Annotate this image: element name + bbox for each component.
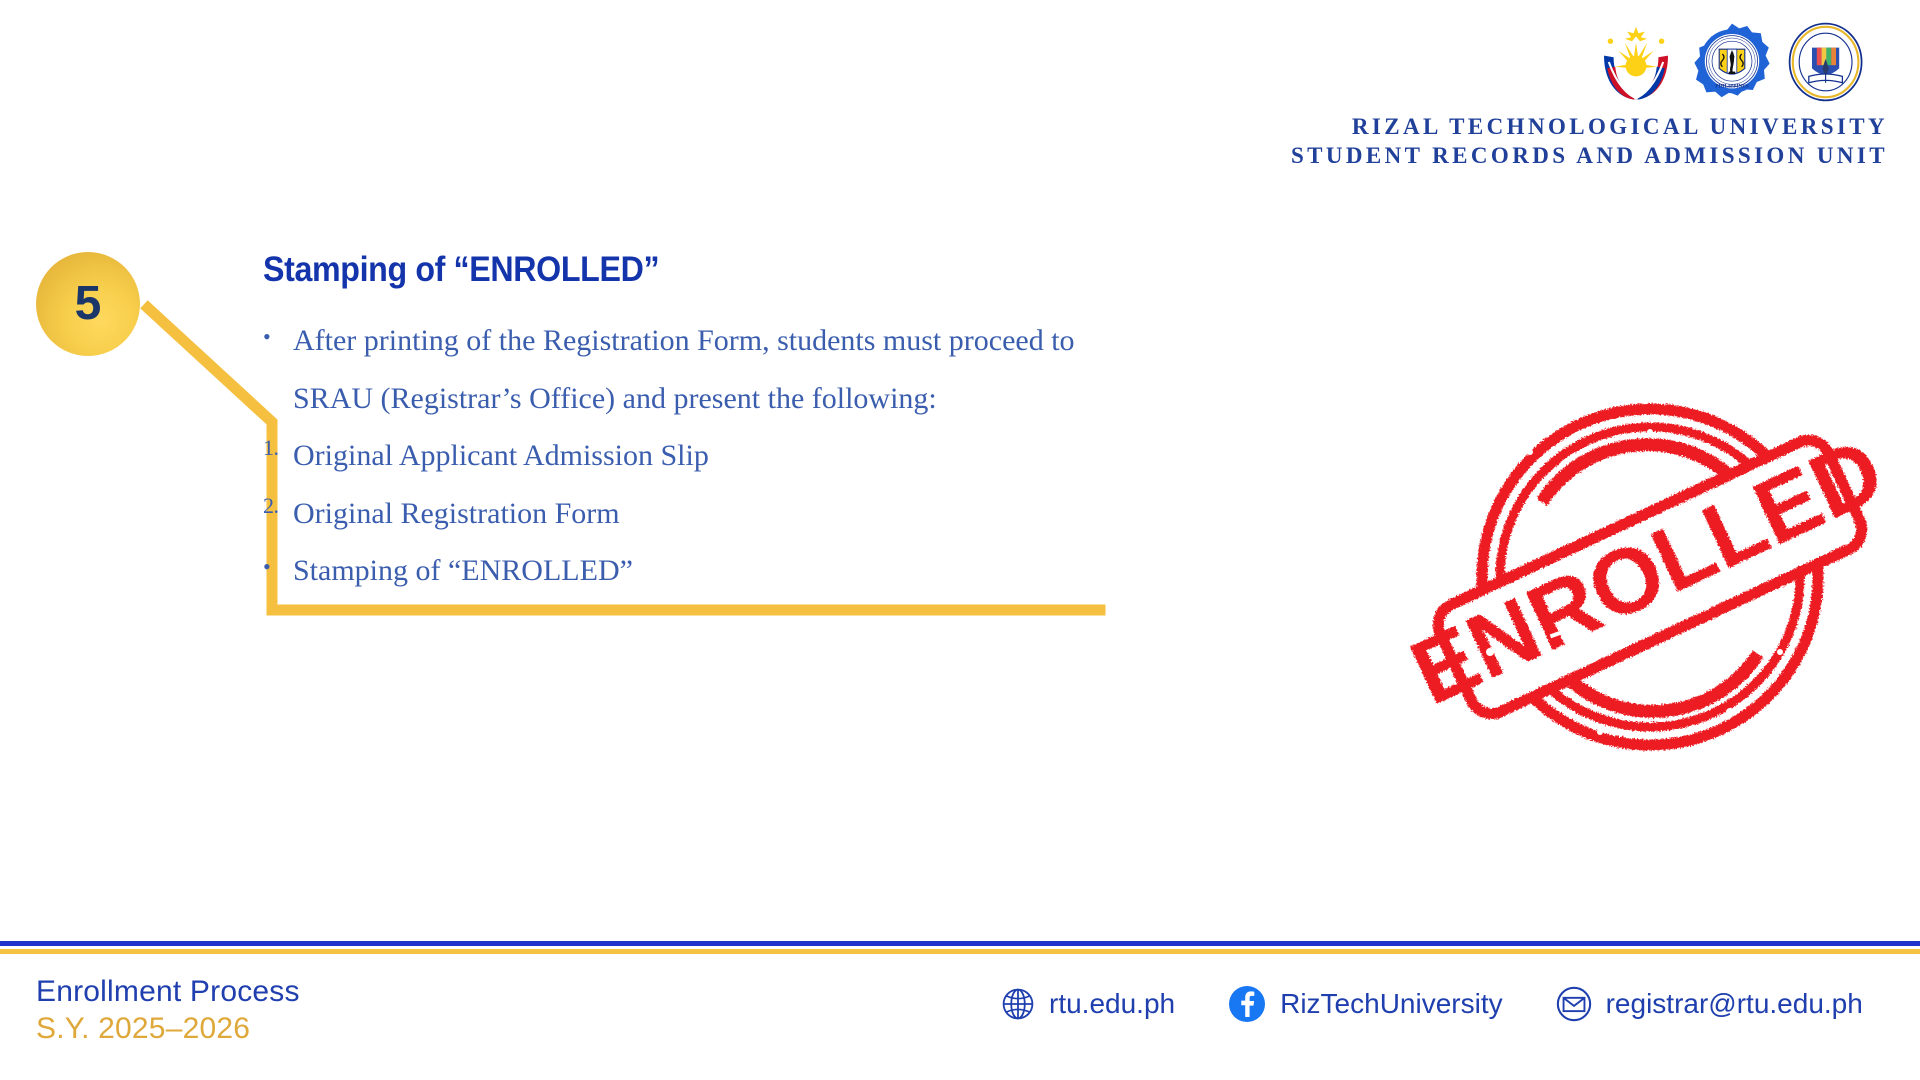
list-marker: • — [263, 312, 293, 358]
email-icon — [1555, 985, 1593, 1023]
footer-titles: Enrollment Process S.Y. 2025–2026 — [36, 974, 300, 1047]
page-title: Stamping of “ENROLLED” — [263, 250, 1257, 290]
contact-email-label: registrar@rtu.edu.ph — [1606, 988, 1863, 1020]
stamp-graphic: ENROLLED — [1400, 409, 1900, 745]
facebook-icon — [1227, 984, 1267, 1024]
footer-school-year: S.Y. 2025–2026 — [36, 1011, 300, 1048]
list-item: • Stamping of “ENROLLED” — [263, 542, 1343, 600]
page-header: PHILIPPINES RIZAL TECHNOLOGICAL UNIVERSI… — [1291, 22, 1888, 171]
list-text-line2: SRAU (Registrar’s Office) and present th… — [293, 370, 1343, 428]
philippine-sun-emblem-logo — [1596, 22, 1676, 102]
unit-name: STUDENT RECORDS AND ADMISSION UNIT — [1291, 141, 1888, 170]
footer-contact-list: rtu.edu.ph RizTechUniversity registrar@r… — [1000, 984, 1863, 1024]
footer-divider-blue — [0, 941, 1920, 946]
srau-seal-logo — [1788, 22, 1864, 102]
contact-email[interactable]: registrar@rtu.edu.ph — [1555, 985, 1863, 1023]
list-text-line1: After printing of the Registration Form,… — [293, 324, 1075, 357]
instruction-list: • After printing of the Registration For… — [263, 312, 1343, 600]
page-footer: Enrollment Process S.Y. 2025–2026 rtu.ed… — [0, 954, 1920, 1080]
svg-text:PHILIPPINES: PHILIPPINES — [1715, 84, 1748, 90]
list-text: Original Applicant Admission Slip — [293, 427, 1343, 485]
slide-content: Stamping of “ENROLLED” • After printing … — [263, 250, 1343, 600]
header-logo-row: PHILIPPINES — [1596, 22, 1864, 102]
list-item: • After printing of the Registration For… — [263, 312, 1343, 427]
contact-website[interactable]: rtu.edu.ph — [1000, 986, 1175, 1022]
rtu-seal-logo: PHILIPPINES — [1692, 22, 1772, 102]
list-item: 1. Original Applicant Admission Slip — [263, 427, 1343, 485]
list-item: 2. Original Registration Form — [263, 485, 1343, 543]
step-number-badge: 5 — [36, 252, 140, 356]
footer-process-title: Enrollment Process — [36, 974, 300, 1011]
contact-website-label: rtu.edu.ph — [1049, 988, 1175, 1020]
globe-icon — [1000, 986, 1036, 1022]
stamp-label: ENROLLED — [1400, 418, 1898, 724]
organization-titles: RIZAL TECHNOLOGICAL UNIVERSITY STUDENT R… — [1291, 112, 1888, 171]
enrolled-stamp: ENROLLED — [1400, 392, 1900, 762]
list-text: After printing of the Registration Form,… — [293, 312, 1343, 427]
step-number: 5 — [75, 280, 102, 328]
contact-facebook[interactable]: RizTechUniversity — [1227, 984, 1503, 1024]
list-marker: • — [263, 542, 293, 588]
list-text: Stamping of “ENROLLED” — [293, 542, 1343, 600]
list-text: Original Registration Form — [293, 485, 1343, 543]
list-marker: 1. — [263, 427, 293, 469]
contact-facebook-label: RizTechUniversity — [1280, 988, 1503, 1020]
university-name: RIZAL TECHNOLOGICAL UNIVERSITY — [1291, 112, 1888, 141]
list-marker: 2. — [263, 485, 293, 527]
